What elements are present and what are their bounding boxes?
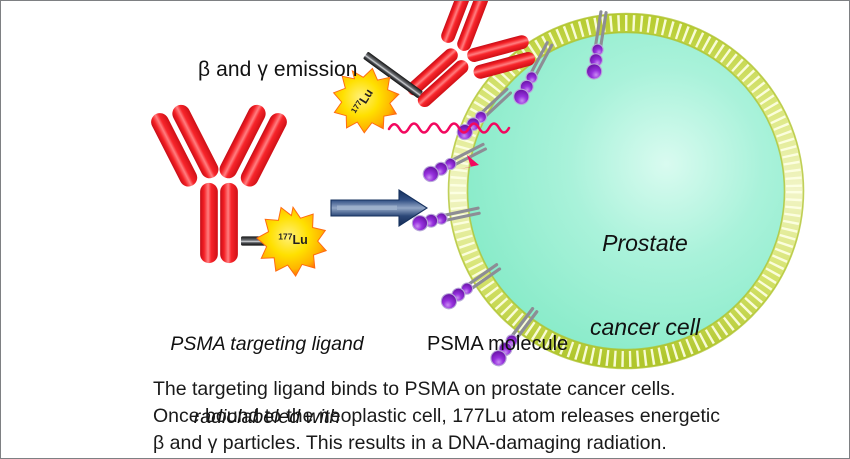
arrow-highlight — [337, 206, 397, 211]
description-line-3: β and γ particles. This results in a DNA… — [153, 430, 733, 457]
cell-label: Prostate cancer cell — [590, 173, 700, 397]
psma-targeting-ligand: 177Lu — [148, 102, 326, 276]
cell-label-line1: Prostate — [590, 229, 700, 257]
description-text: The targeting ligand binds to PSMA on pr… — [153, 376, 733, 457]
description-line-1: The targeting ligand binds to PSMA on pr… — [153, 376, 733, 403]
ligand-caption-line1: PSMA targeting ligand — [142, 332, 392, 356]
cell-label-line2: cancer cell — [590, 313, 700, 341]
psma-molecule-label: PSMA molecule — [427, 332, 568, 356]
isotope-mass-free: 177 — [278, 232, 292, 242]
isotope-symbol-free: Lu — [292, 233, 307, 247]
figure-panel: 177Lu 177Lu — [0, 0, 850, 459]
emission-label: β and γ emission — [198, 57, 358, 83]
description-line-2: Once bound to the neoplastic cell, 177Lu… — [153, 403, 733, 430]
